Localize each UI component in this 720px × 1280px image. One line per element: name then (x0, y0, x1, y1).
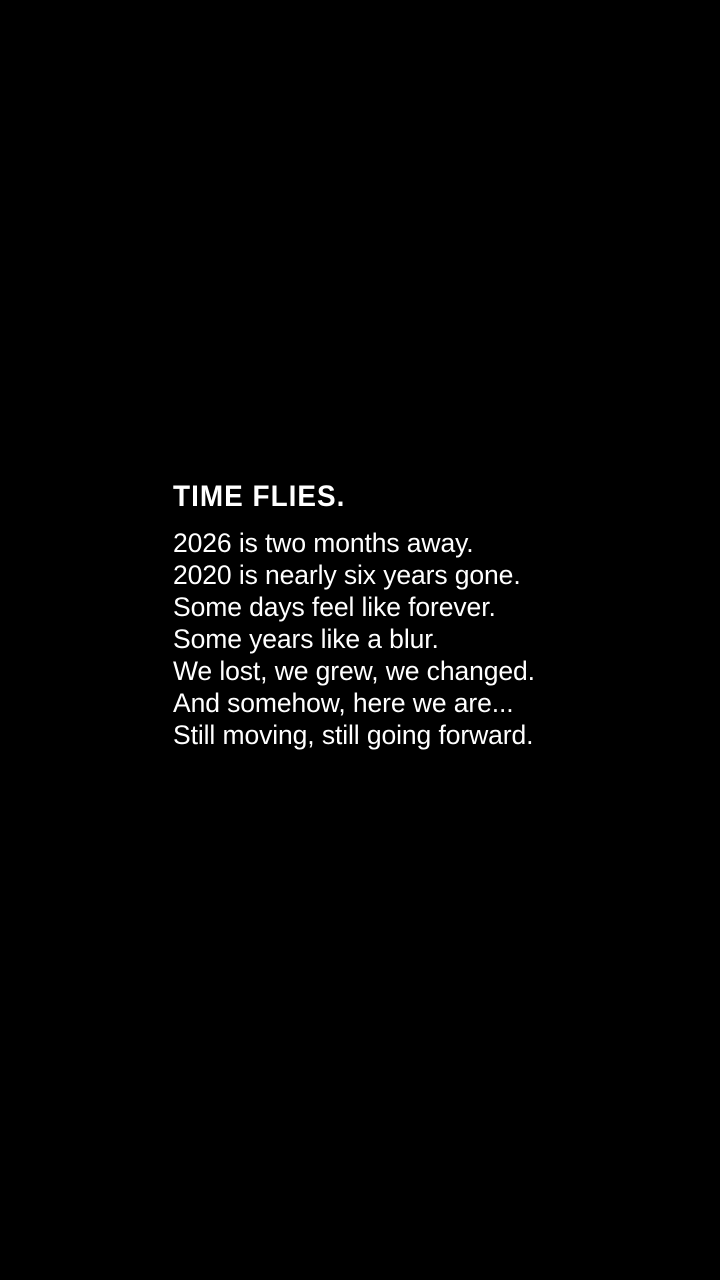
quote-image-canvas: TIME FLIES. 2026 is two months away. 202… (0, 0, 720, 1280)
quote-line: 2026 is two months away. (173, 527, 673, 559)
quote-heading: TIME FLIES. (173, 481, 638, 513)
quote-line: And somehow, here we are... (173, 687, 673, 719)
quote-line: 2020 is nearly six years gone. (173, 559, 673, 591)
quote-block: TIME FLIES. 2026 is two months away. 202… (173, 481, 673, 751)
quote-line: Still moving, still going forward. (173, 719, 673, 751)
quote-line: We lost, we grew, we changed. (173, 655, 673, 687)
quote-line: Some days feel like forever. (173, 591, 673, 623)
quote-body: 2026 is two months away. 2020 is nearly … (173, 527, 673, 751)
quote-line: Some years like a blur. (173, 623, 673, 655)
